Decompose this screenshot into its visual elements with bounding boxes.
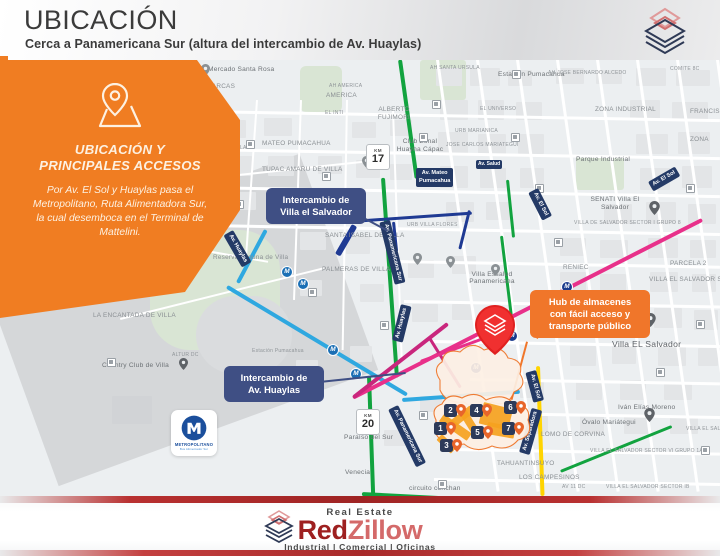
- map-label: SENATI Villa El Salvador: [588, 196, 642, 212]
- callout-line2: con fácil acceso y: [550, 308, 630, 319]
- map-label: VILLA EL SALVADOR SECTOR VI GRUPO 1A: [590, 448, 703, 454]
- panel-edge-accent: [0, 56, 8, 62]
- panel-body-text: Por Av. El Sol y Huaylas pasa el Metropo…: [30, 184, 210, 240]
- map-label: AH AMERICA: [329, 83, 362, 89]
- map-label: ZONA: [690, 136, 709, 144]
- metropolitano-badge[interactable]: METROPOLITANO Bus Alimentador Sur: [171, 410, 217, 456]
- map-label: LOS CAMPESINOS: [519, 474, 580, 482]
- road-chip-av-mateo-pumacahua: Av. MateoPumacahua: [416, 168, 453, 187]
- map-poi-pin-icon: [413, 253, 422, 265]
- warehouse-pin-3[interactable]: 3: [440, 439, 462, 453]
- warehouse-pin-6[interactable]: 6: [504, 401, 526, 415]
- map-label: AMERICA: [326, 92, 357, 100]
- map-label: JOSE CARLOS MARIATEGUI: [446, 142, 519, 148]
- map-label: EL INTI: [325, 110, 344, 116]
- callout-line1: Intercambio de: [283, 194, 350, 205]
- warehouse-pin-2[interactable]: 2: [444, 404, 466, 418]
- callout-line1: Hub de almacenes: [549, 296, 631, 307]
- map-label: VILLA EL SALVADOR SECTOR II GRUPO 33: [686, 426, 720, 432]
- panel-heading-line1: UBICACIÓN Y: [75, 142, 165, 157]
- callout-line2: Av. Huaylas: [248, 384, 300, 395]
- map-label: VILLA DE SALVADOR SECTOR I GRUPO 8: [574, 220, 681, 226]
- map-poi-pin-icon: [644, 408, 655, 422]
- map-label: RENIEC: [563, 264, 589, 272]
- callout-av-huaylas[interactable]: Intercambio de Av. Huaylas: [224, 366, 324, 402]
- map-label: PALMERAS DE VILLA: [322, 266, 390, 274]
- footer-stripe-top: [0, 496, 720, 503]
- warehouse-pin-4[interactable]: 4: [470, 404, 492, 418]
- location-pin-icon: [97, 82, 143, 128]
- callout-line3: transporte público: [549, 320, 631, 331]
- map-label: AH JOSE BERNARDO ALCEDO: [548, 70, 627, 76]
- warehouse-pin-7[interactable]: 7: [502, 422, 524, 436]
- callout-villa-el-salvador[interactable]: Intercambio de Villa el Salvador: [266, 188, 366, 224]
- slide-footer: Real Estate RedZillow Industrial | Comer…: [0, 496, 720, 556]
- slide-header: UBICACIÓN Cerca a Panamericana Sur (altu…: [0, 0, 720, 60]
- map-label: VILLA EL SALVADOR SECTOR IB: [606, 484, 690, 490]
- map-poi-pin-icon: [446, 256, 455, 268]
- map-label: Estación Pumacahua: [252, 348, 304, 354]
- footer-brand-red: Red: [298, 515, 348, 545]
- map-label: TAHUANTINSUYO: [497, 460, 554, 468]
- panel-heading-line2: PRINCIPALES ACCESOS: [39, 158, 201, 173]
- map-label: MATEO PUMACAHUA: [262, 140, 331, 148]
- green-area: [300, 66, 342, 112]
- map-label: AH SANTA URSULA: [430, 65, 480, 71]
- map-label: URB MARIANICA: [455, 128, 498, 134]
- map-poi-pin-icon: [179, 358, 188, 370]
- warehouse-marker-icon: [514, 422, 524, 435]
- page-subtitle: Cerca a Panamericana Sur (altura del int…: [25, 37, 421, 51]
- map-label: Mercado Santa Rosa: [208, 66, 274, 74]
- map-label: Paraíso del Sur: [344, 434, 393, 442]
- warehouse-marker-icon: [516, 401, 526, 414]
- metro-stop-icon: M: [297, 278, 309, 290]
- km-marker-17: KM 17: [366, 144, 390, 170]
- map-poi-pin-icon: [491, 264, 500, 276]
- map-poi-pin-icon: [649, 201, 660, 215]
- map-label: AV 11 DC: [562, 484, 586, 490]
- road-chip-av-huaylas: Av. Huaylas: [392, 304, 412, 343]
- map-label: EL UNIVERSO: [480, 106, 516, 112]
- map-label: PARCELA 2: [670, 260, 707, 268]
- map-label: URB VILLA FLORES: [407, 222, 458, 228]
- metropolitano-tagline: Bus Alimentador Sur: [171, 447, 217, 451]
- map-label: LOMO DE CORVINA: [541, 431, 605, 439]
- footer-brand-zillow: Zillow: [348, 515, 423, 545]
- page-title: UBICACIÓN: [24, 5, 178, 36]
- warehouse-marker-icon: [483, 426, 493, 439]
- callout-line1: Intercambio de: [241, 372, 308, 383]
- redzillow-stacked-diamond-logo: [632, 6, 698, 56]
- location-slide: Av. MateoPumacahua Av. Huaylas Av. Huayl…: [0, 0, 720, 556]
- map-label: circuito conchan: [409, 485, 461, 493]
- map-label: Óvalo Mariátegui: [582, 419, 636, 427]
- map-label: LA ENCANTADA DE VILLA: [93, 312, 176, 320]
- map-label: ZONA INDUSTRIAL: [595, 106, 656, 114]
- metro-stop-icon: M: [327, 344, 339, 356]
- callout-line2: Villa el Salvador: [280, 206, 352, 217]
- panel-heading: UBICACIÓN Y PRINCIPALES ACCESOS: [14, 142, 226, 174]
- metropolitano-m-logo: [181, 415, 207, 441]
- footer-stripe-bottom: [0, 550, 720, 556]
- warehouse-marker-icon: [482, 404, 492, 417]
- map-label: Venecia: [345, 469, 370, 477]
- warehouse-pin-5[interactable]: 5: [471, 426, 493, 440]
- map-label: Parque Industrial: [576, 156, 630, 164]
- map-label: ALBERTO FUJIMORI: [366, 106, 422, 121]
- warehouse-pin-1[interactable]: 1: [434, 422, 456, 436]
- callout-hub-almacenes[interactable]: Hub de almacenes con fácil acceso y tran…: [530, 290, 650, 338]
- main-location-pin[interactable]: [474, 304, 516, 356]
- warehouse-marker-icon: [456, 404, 466, 417]
- road-chip-av-salud: Av. Salud: [476, 160, 502, 169]
- map-label: COMITE 8C: [670, 66, 699, 72]
- metro-stop-icon: M: [281, 266, 293, 278]
- km-marker-20: KM 20: [356, 409, 380, 435]
- warehouse-marker-icon: [446, 422, 456, 435]
- warehouse-marker-icon: [452, 439, 462, 452]
- map-label: Villa EL Salvador: [612, 340, 681, 350]
- map-label: FRANCISCO LA ROSA: [690, 108, 720, 116]
- laguna-water: [196, 296, 292, 374]
- map-label: VILLA EL SALVADOR SECTOR II GRUPO 9: [649, 276, 720, 283]
